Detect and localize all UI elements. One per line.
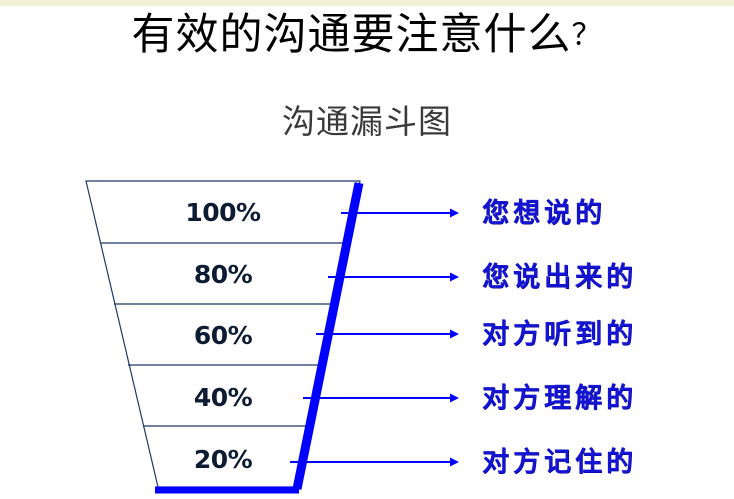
page-title-question-mark: ？ <box>572 18 603 53</box>
funnel-arrow-5 <box>290 458 459 467</box>
funnel-arrow-2 <box>328 273 459 282</box>
funnel-percent-4: 40% <box>163 385 283 410</box>
funnel-diagram: 100% 80% 60% 40% 20% <box>0 0 470 499</box>
funnel-percent-1: 100% <box>163 200 283 225</box>
stage-label-3: 对方听到的 <box>482 321 712 348</box>
stage-label-1: 您想说的 <box>482 200 712 227</box>
funnel-percent-3: 60% <box>163 323 283 348</box>
funnel-percent-5: 20% <box>163 447 283 472</box>
funnel-graphic <box>0 0 470 499</box>
funnel-arrow-4 <box>303 394 459 403</box>
funnel-percent-2: 80% <box>163 262 283 287</box>
stage-label-5: 对方记住的 <box>482 449 712 476</box>
funnel-arrow-3 <box>316 330 459 339</box>
slide-canvas: 有效的沟通要注意什么？ 沟通漏斗图 <box>0 0 734 499</box>
stage-label-4: 对方理解的 <box>482 385 712 412</box>
funnel-arrow-1 <box>341 209 459 218</box>
stage-label-2: 您说出来的 <box>482 264 712 291</box>
